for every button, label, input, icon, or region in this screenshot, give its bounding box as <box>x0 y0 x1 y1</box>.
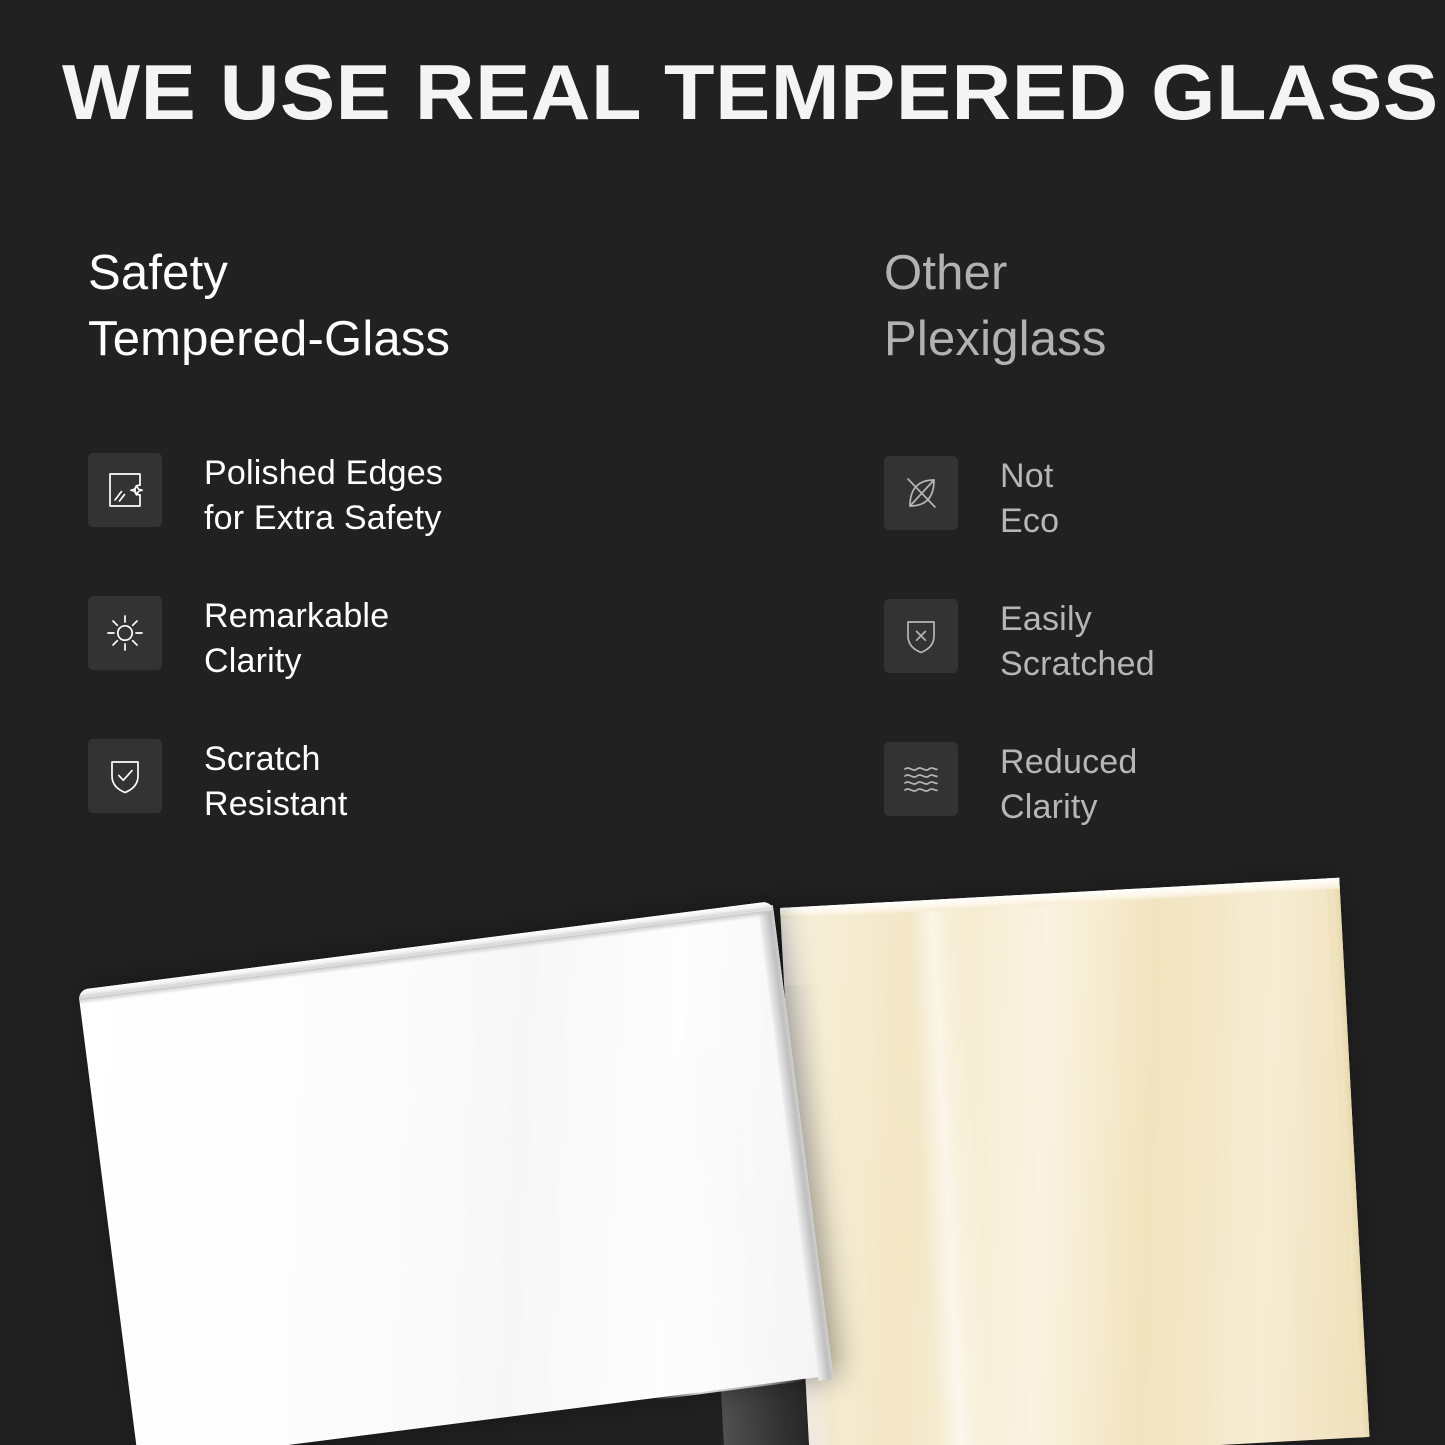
plexiglass-panel-top-edge <box>780 878 1340 919</box>
feature-label: Scratch Resistant <box>204 736 348 827</box>
plexiglass-panel-reflection <box>908 909 994 1445</box>
feature-row-easily-scratched: Easily Scratched <box>884 596 1155 739</box>
tempered-glass-panel-edge-shadow <box>79 910 774 1005</box>
feature-list-tempered-glass: Polished Edges for Extra Safety Remarkab… <box>88 450 443 879</box>
plexiglass-panel-side-edge <box>1326 878 1369 1438</box>
plexiglass-panel <box>780 878 1369 1445</box>
feature-row-not-eco: Not Eco <box>884 453 1155 596</box>
polished-glass-sparkle-icon <box>88 453 162 527</box>
marketing-comparison-graphic: WE USE REAL TEMPERED GLASS Safety Temper… <box>0 0 1445 1445</box>
tempered-glass-panel-reflection <box>612 1044 804 1400</box>
column-heading-tempered-glass: Safety Tempered-Glass <box>88 240 450 372</box>
shield-check-icon <box>88 739 162 813</box>
feature-row-remarkable-clarity: Remarkable Clarity <box>88 593 443 736</box>
column-heading-plexiglass: Other Plexiglass <box>884 240 1107 372</box>
feature-label: Remarkable Clarity <box>204 593 389 684</box>
tempered-glass-panel <box>78 901 833 1445</box>
feature-label: Not Eco <box>1000 453 1059 544</box>
feature-label: Reduced Clarity <box>1000 739 1138 830</box>
page-title: WE USE REAL TEMPERED GLASS <box>62 46 1445 138</box>
feature-row-polished-edges: Polished Edges for Extra Safety <box>88 450 443 593</box>
feature-label: Easily Scratched <box>1000 596 1155 687</box>
wavy-lines-icon <box>884 742 958 816</box>
product-photo <box>0 840 1445 1445</box>
sun-brightness-icon <box>88 596 162 670</box>
feature-label: Polished Edges for Extra Safety <box>204 450 443 541</box>
leaf-slash-icon <box>884 456 958 530</box>
feature-list-plexiglass: Not Eco Easily Scratched <box>884 453 1155 882</box>
shield-x-icon <box>884 599 958 673</box>
